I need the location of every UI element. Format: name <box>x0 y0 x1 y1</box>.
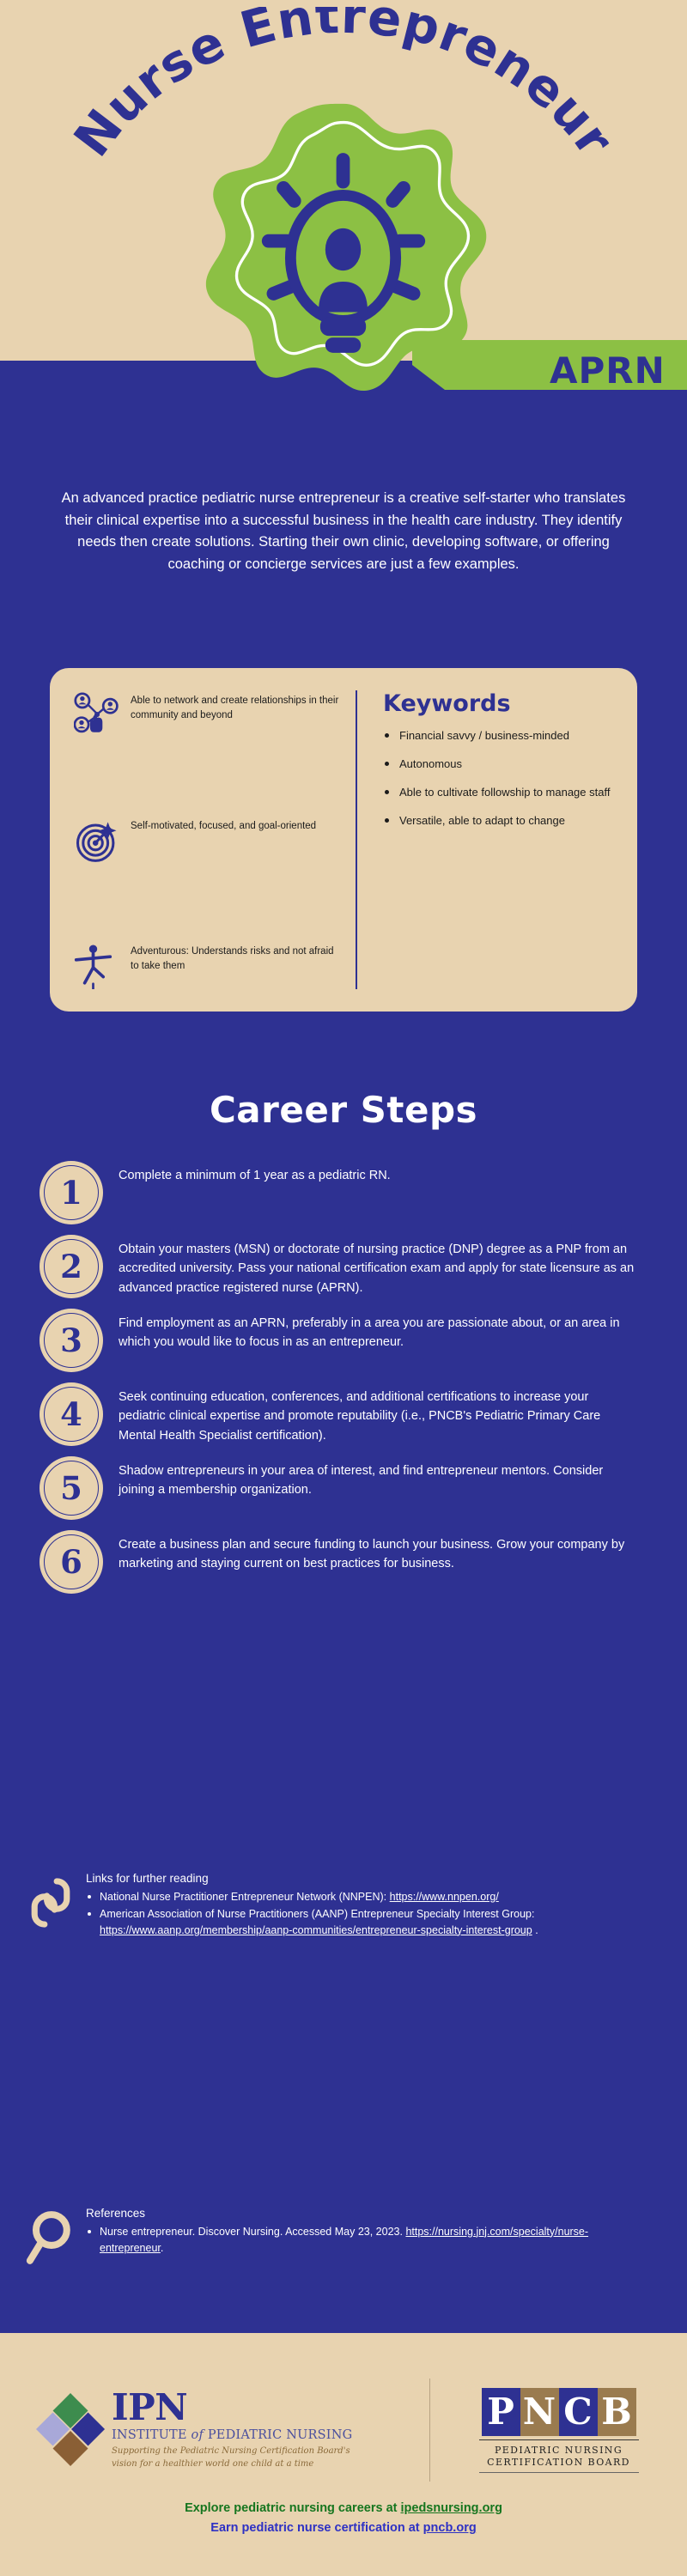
step-text: Complete a minimum of 1 year as a pediat… <box>103 1161 639 1185</box>
step-number: 6 <box>40 1530 103 1594</box>
ipn-logo: IPN INSTITUTE of PEDIATRIC NURSING Suppo… <box>0 2390 429 2470</box>
keywords-list: Financial savvy / business-minded Autono… <box>383 728 620 829</box>
trait-item: Adventurous: Understands risks and not a… <box>74 943 340 989</box>
ipn-name: IPN <box>112 2390 352 2426</box>
trait-text: Adventurous: Understands risks and not a… <box>131 943 340 973</box>
pncb-letter: C <box>559 2388 598 2436</box>
reference-label: Nurse entrepreneur. Discover Nursing. Ac… <box>100 2226 403 2238</box>
infographic-page: Nurse Entrepreneur APRN An advanced prac… <box>0 0 687 2576</box>
links-heading: Links for further reading <box>86 1870 623 1887</box>
pncb-rule <box>479 2439 639 2441</box>
link-label: National Nurse Practitioner Entrepreneur… <box>100 1891 386 1903</box>
ipn-puzzle-logo <box>36 2391 106 2469</box>
aprn-label: APRN <box>550 347 678 395</box>
traits-keywords-card: Able to network and create relationships… <box>50 668 637 1012</box>
page-title-text: Nurse Entrepreneur <box>63 7 625 167</box>
keywords-title: Keywords <box>383 690 620 717</box>
pncb-letters: P N C B <box>482 2388 636 2436</box>
career-step: 3 Find employment as an APRN, preferably… <box>0 1309 687 1372</box>
step-text: Obtain your masters (MSN) or doctorate o… <box>103 1235 639 1297</box>
pncb-letter: B <box>598 2388 636 2436</box>
step-number-badge: 5 <box>40 1456 103 1520</box>
pncb-rule-bottom <box>479 2472 639 2473</box>
career-step: 6 Create a business plan and secure fund… <box>0 1530 687 1594</box>
career-step: 5 Shadow entrepreneurs in your area of i… <box>0 1456 687 1520</box>
page-title: Nurse Entrepreneur <box>0 7 687 282</box>
links-list: National Nurse Practitioner Entrepreneur… <box>86 1889 623 1939</box>
pncb-subtitle: PEDIATRIC NURSING CERTIFICATION BOARD <box>487 2445 630 2469</box>
trait-text: Self-motivated, focused, and goal-orient… <box>131 817 316 834</box>
reference-tail: . <box>161 2242 163 2254</box>
pncb-letter: P <box>482 2388 520 2436</box>
cta-line-certification: Earn pediatric nurse certification at pn… <box>0 2518 687 2538</box>
step-number-badge: 6 <box>40 1530 103 1594</box>
list-item: National Nurse Practitioner Entrepreneur… <box>86 1889 623 1905</box>
network-people-icon <box>74 692 120 738</box>
links-section: Links for further reading National Nurse… <box>22 1870 623 1940</box>
step-number-badge: 4 <box>40 1382 103 1446</box>
footer-cta: Explore pediatric nursing careers at ipe… <box>0 2499 687 2538</box>
traits-column: Able to network and create relationships… <box>50 668 356 1012</box>
cta-line-careers: Explore pediatric nursing careers at ipe… <box>0 2499 687 2518</box>
step-text: Create a business plan and secure fundin… <box>103 1530 639 1574</box>
intro-paragraph: An advanced practice pediatric nurse ent… <box>52 488 635 575</box>
career-steps-title: Career Steps <box>0 1089 687 1131</box>
ipn-tagline: Supporting the Pediatric Nursing Certifi… <box>112 2445 352 2470</box>
pncb-letter: N <box>520 2388 559 2436</box>
references-list: Nurse entrepreneur. Discover Nursing. Ac… <box>86 2224 623 2257</box>
cta-certification-link[interactable]: pncb.org <box>423 2521 477 2535</box>
link-url[interactable]: https://www.aanp.org/membership/aanp-com… <box>100 1924 532 1936</box>
trait-item: Self-motivated, focused, and goal-orient… <box>74 817 340 864</box>
pncb-logo: P N C B PEDIATRIC NURSING CERTIFICATION … <box>430 2388 687 2473</box>
references-heading: References <box>86 2205 623 2222</box>
chain-link-icon <box>22 1870 79 1932</box>
step-number-badge: 1 <box>40 1161 103 1224</box>
trait-text: Able to network and create relationships… <box>131 692 340 722</box>
step-number: 3 <box>40 1309 103 1372</box>
trait-item: Able to network and create relationships… <box>74 692 340 738</box>
keyword-item: Able to cultivate followship to manage s… <box>383 785 620 800</box>
list-item: American Association of Nurse Practition… <box>86 1906 623 1939</box>
step-number: 4 <box>40 1382 103 1446</box>
step-number-badge: 3 <box>40 1309 103 1372</box>
career-step: 4 Seek continuing education, conferences… <box>0 1382 687 1446</box>
link-label: American Association of Nurse Practition… <box>100 1908 534 1920</box>
keyword-item: Financial savvy / business-minded <box>383 728 620 744</box>
tightrope-walker-icon <box>74 943 120 989</box>
step-text: Shadow entrepreneurs in your area of int… <box>103 1456 639 1500</box>
keywords-column: Keywords Financial savvy / business-mind… <box>357 668 637 1012</box>
career-steps-list: 1 Complete a minimum of 1 year as a pedi… <box>0 1161 687 1604</box>
career-step: 1 Complete a minimum of 1 year as a pedi… <box>0 1161 687 1224</box>
step-number-badge: 2 <box>40 1235 103 1298</box>
link-tail: . <box>532 1924 538 1936</box>
keyword-item: Versatile, able to adapt to change <box>383 813 620 829</box>
ipn-subtitle: INSTITUTE of PEDIATRIC NURSING <box>112 2428 352 2442</box>
magnifying-glass-icon <box>22 2205 79 2267</box>
cta-careers-link[interactable]: ipedsnursing.org <box>401 2501 502 2515</box>
link-url[interactable]: https://www.nnpen.org/ <box>390 1891 499 1903</box>
step-text: Seek continuing education, conferences, … <box>103 1382 639 1445</box>
target-bullseye-icon <box>74 817 120 864</box>
step-text: Find employment as an APRN, preferably i… <box>103 1309 639 1352</box>
step-number: 1 <box>40 1161 103 1224</box>
step-number: 5 <box>40 1456 103 1520</box>
list-item: Nurse entrepreneur. Discover Nursing. Ac… <box>86 2224 623 2257</box>
keyword-item: Autonomous <box>383 756 620 772</box>
step-number: 2 <box>40 1235 103 1298</box>
career-step: 2 Obtain your masters (MSN) or doctorate… <box>0 1235 687 1298</box>
references-section: References Nurse entrepreneur. Discover … <box>22 2205 623 2267</box>
footer-logos: IPN INSTITUTE of PEDIATRIC NURSING Suppo… <box>0 2366 687 2494</box>
